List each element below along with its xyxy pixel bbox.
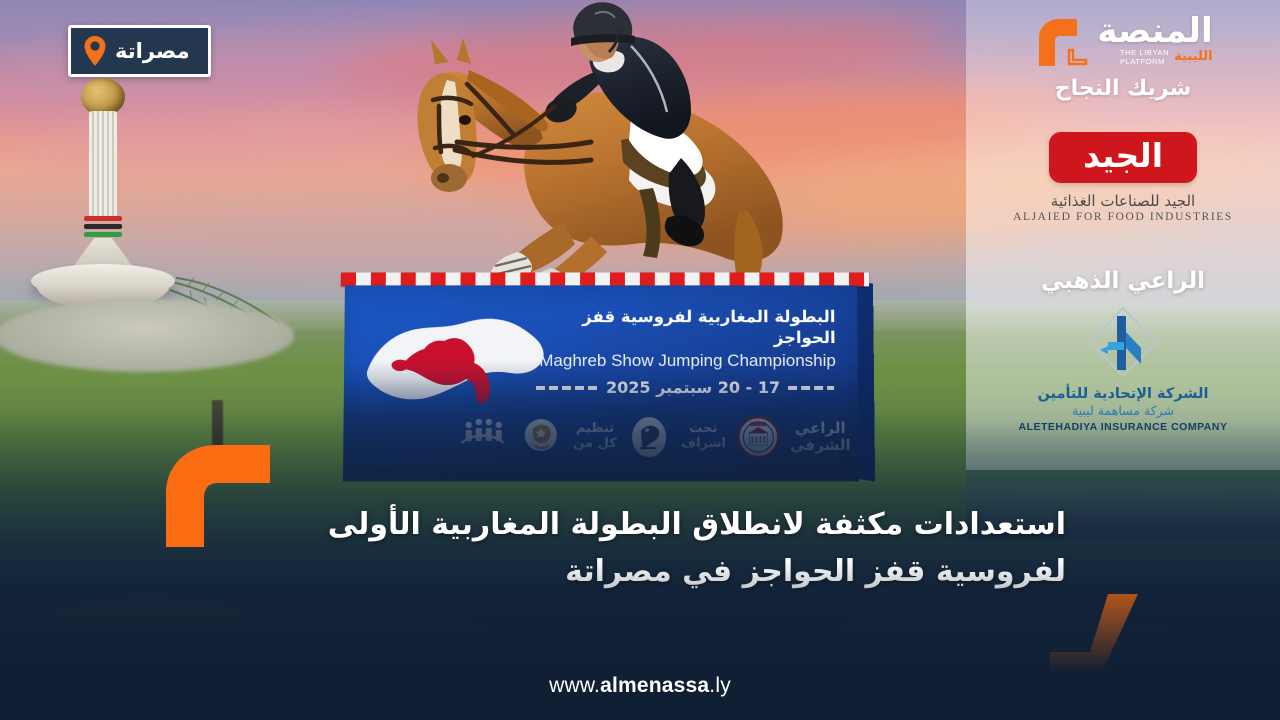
insurance-name-arabic-1: الشركة الإتحادية للتأمين — [966, 386, 1280, 402]
flag-band-green — [84, 232, 122, 237]
monument-plaza — [0, 300, 294, 372]
sponsor-gold: الراعي الذهبي الشركة الإتحادية للتأمين ش… — [966, 268, 1280, 433]
location-badge[interactable]: مصراتة — [68, 25, 211, 77]
monument-column — [89, 111, 117, 219]
almenassa-logo-mark — [1033, 16, 1091, 70]
misrata-monument — [28, 78, 178, 318]
aletehadiya-insurance-logo — [1084, 302, 1162, 382]
website-url[interactable]: www.almenassa.ly — [0, 674, 1280, 698]
flag-band-red — [84, 216, 122, 221]
poster-canvas: البطولة المغاربية لفروسية قفز الحواجز Ma… — [0, 0, 1280, 720]
location-badge-label: مصراتة — [115, 39, 190, 63]
insurance-name-arabic-2: شركة مساهمة ليبية — [966, 403, 1280, 418]
barrier-checkered-rail — [341, 272, 869, 286]
banner-title-arabic: البطولة المغاربية لفروسية قفز الحواجز — [536, 307, 836, 348]
flag-band-black — [84, 224, 122, 229]
almenassa-brand-block: المنصة THE LIBYAN PLATFORM الليبية شريك … — [966, 14, 1280, 101]
brand-sub-arabic: الليبية — [1174, 50, 1212, 63]
brand-word: المنصة — [1097, 14, 1212, 48]
map-pin-icon — [83, 35, 107, 67]
url-brand: almenassa — [600, 674, 709, 697]
aljaied-logo-box: الجيد — [1049, 132, 1197, 183]
aljaied-name-english: ALJAIED FOR FOOD INDUSTRIES — [966, 211, 1280, 223]
brand-row: المنصة THE LIBYAN PLATFORM الليبية — [966, 14, 1280, 70]
footer: www.almenassa.ly — [0, 674, 1280, 698]
url-prefix: www. — [549, 674, 600, 697]
brand-tagline: شريك النجاح — [966, 76, 1280, 101]
url-suffix: .ly — [709, 674, 731, 697]
show-jumping-horse-and-rider — [395, 0, 815, 300]
sponsor-aljaied: الجيد الجيد للصناعات الغذائية ALJAIED FO… — [966, 132, 1280, 223]
aljaied-name-arabic: الجيد للصناعات الغذائية — [966, 192, 1280, 210]
brand-sub-english: THE LIBYAN PLATFORM — [1120, 48, 1169, 67]
gold-sponsor-title: الراعي الذهبي — [966, 268, 1280, 294]
headline-line-1: استعدادات مكثفة لانطلاق البطولة المغاربي… — [236, 502, 1066, 549]
aljaied-logo-word: الجيد — [1083, 139, 1163, 174]
